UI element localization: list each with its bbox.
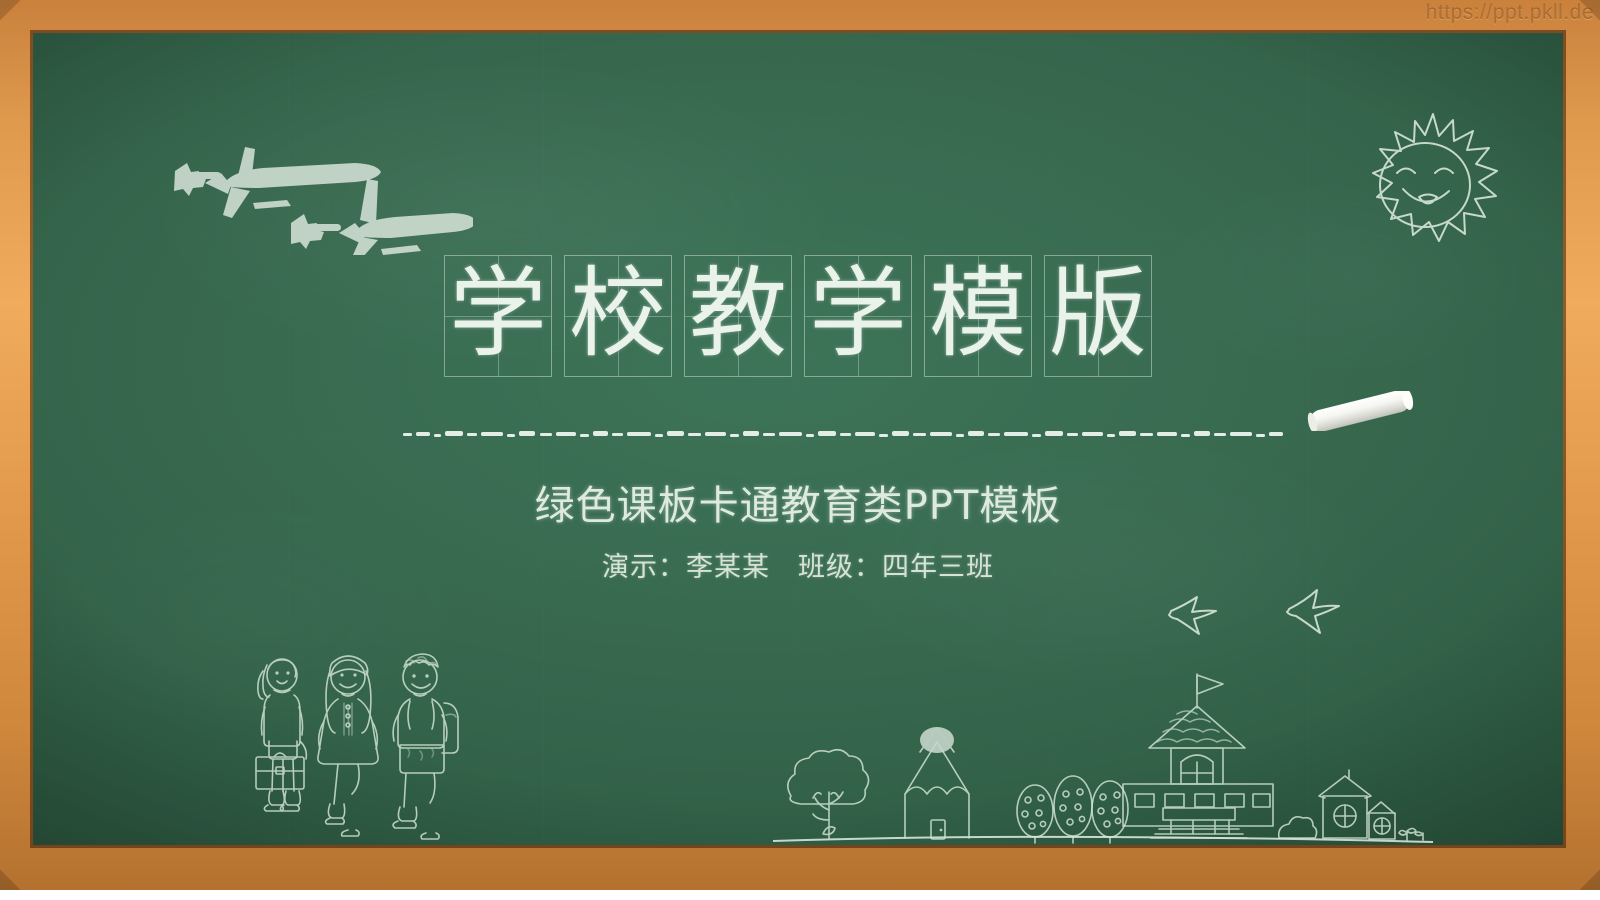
watermark-url: https://ppt.pkll.de bbox=[1426, 1, 1594, 25]
chalkboard-surface: 学 校 教 学 模 bbox=[33, 33, 1563, 845]
presentation-slide: 学 校 教 学 模 bbox=[0, 0, 1600, 900]
chalk-underline bbox=[401, 429, 1291, 438]
title-char: 版 bbox=[1049, 265, 1147, 363]
page-subtitle: 绿色课板卡通教育类PPT模板 bbox=[33, 473, 1563, 531]
title-glyph-cell: 校 bbox=[564, 255, 672, 377]
title-glyph-cell: 教 bbox=[684, 255, 792, 377]
title-char: 学 bbox=[809, 265, 907, 363]
page-title: 学 校 教 学 模 bbox=[33, 255, 1563, 377]
presenter-byline: 演示：李某某 班级：四年三班 bbox=[33, 545, 1563, 584]
title-char: 学 bbox=[449, 265, 547, 363]
board-vignette bbox=[33, 33, 1563, 845]
title-char: 教 bbox=[689, 265, 787, 363]
title-char: 校 bbox=[569, 265, 667, 363]
title-char: 模 bbox=[929, 265, 1027, 363]
title-glyph-cell: 学 bbox=[804, 255, 912, 377]
title-glyph-cell: 版 bbox=[1044, 255, 1152, 377]
title-glyph-cell: 学 bbox=[444, 255, 552, 377]
chalk-stick bbox=[1295, 391, 1425, 431]
title-glyph-cell: 模 bbox=[924, 255, 1032, 377]
